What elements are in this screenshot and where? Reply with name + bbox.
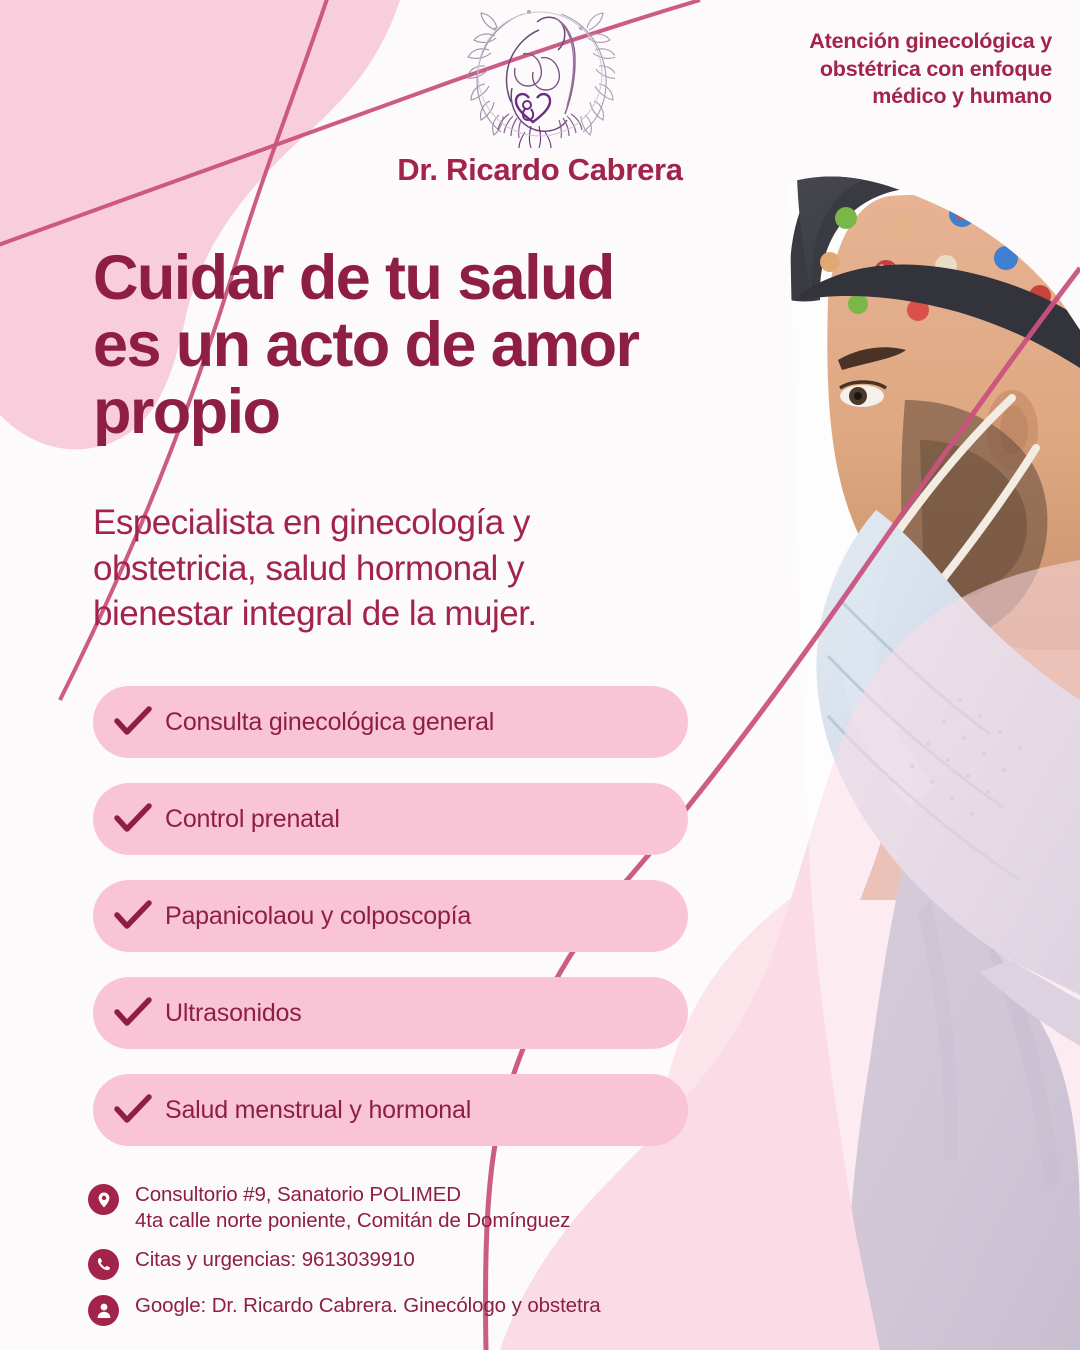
- headline-line-2: es un acto de amor: [93, 312, 773, 379]
- headline-line-1: Cuidar de tu salud: [93, 245, 773, 312]
- tagline: Atención ginecológica y obstétrica con e…: [752, 28, 1052, 111]
- check-icon: [111, 894, 155, 938]
- check-icon: [111, 991, 155, 1035]
- subheadline-line-2: obstetricia, salud hormonal y: [93, 546, 693, 592]
- service-pill[interactable]: Ultrasonidos: [93, 977, 688, 1049]
- service-label: Consulta ginecológica general: [165, 708, 494, 737]
- services-list: Consulta ginecológica general Control pr…: [93, 686, 693, 1171]
- pregnant-woman-laurel-wreath-logo: [465, 2, 615, 150]
- address-line-2: 4ta calle norte poniente, Comitán de Dom…: [135, 1208, 570, 1234]
- check-icon: [111, 700, 155, 744]
- tagline-line-2: obstétrica con enfoque: [752, 56, 1052, 84]
- poster-canvas: Dr. Ricardo Cabrera Atención ginecológic…: [0, 0, 1080, 1350]
- check-icon: [111, 797, 155, 841]
- subheadline-line-1: Especialista en ginecología y: [93, 500, 693, 546]
- service-label: Ultrasonidos: [165, 999, 302, 1028]
- contact-profile-text: Google: Dr. Ricardo Cabrera. Ginecólogo …: [135, 1293, 601, 1319]
- contact-phone-text: Citas y urgencias: 9613039910: [135, 1247, 415, 1273]
- subheadline: Especialista en ginecología y obstetrici…: [93, 500, 693, 637]
- tagline-line-1: Atención ginecológica y: [752, 28, 1052, 56]
- address-line-1: Consultorio #9, Sanatorio POLIMED: [135, 1183, 461, 1206]
- service-label: Control prenatal: [165, 805, 340, 834]
- logo-block: Dr. Ricardo Cabrera: [340, 2, 740, 188]
- contact-row-profile[interactable]: Google: Dr. Ricardo Cabrera. Ginecólogo …: [88, 1293, 708, 1326]
- headline-line-3: propio: [93, 379, 773, 446]
- contact-address-text: Consultorio #9, Sanatorio POLIMED 4ta ca…: [135, 1182, 570, 1234]
- service-pill[interactable]: Consulta ginecológica general: [93, 686, 688, 758]
- service-label: Salud menstrual y hormonal: [165, 1096, 471, 1125]
- service-pill[interactable]: Papanicolaou y colposcopía: [93, 880, 688, 952]
- contact-block: Consultorio #9, Sanatorio POLIMED 4ta ca…: [88, 1182, 708, 1339]
- contact-row-phone[interactable]: Citas y urgencias: 9613039910: [88, 1247, 708, 1280]
- check-icon: [111, 1088, 155, 1132]
- contact-row-address[interactable]: Consultorio #9, Sanatorio POLIMED 4ta ca…: [88, 1182, 708, 1234]
- service-pill[interactable]: Salud menstrual y hormonal: [93, 1074, 688, 1146]
- tagline-line-3: médico y humano: [752, 83, 1052, 111]
- phone-icon: [88, 1249, 119, 1280]
- service-label: Papanicolaou y colposcopía: [165, 902, 471, 931]
- doctor-name: Dr. Ricardo Cabrera: [340, 152, 740, 188]
- person-icon: [88, 1295, 119, 1326]
- service-pill[interactable]: Control prenatal: [93, 783, 688, 855]
- headline: Cuidar de tu salud es un acto de amor pr…: [93, 245, 773, 445]
- subheadline-line-3: bienestar integral de la mujer.: [93, 591, 693, 637]
- location-pin-icon: [88, 1184, 119, 1215]
